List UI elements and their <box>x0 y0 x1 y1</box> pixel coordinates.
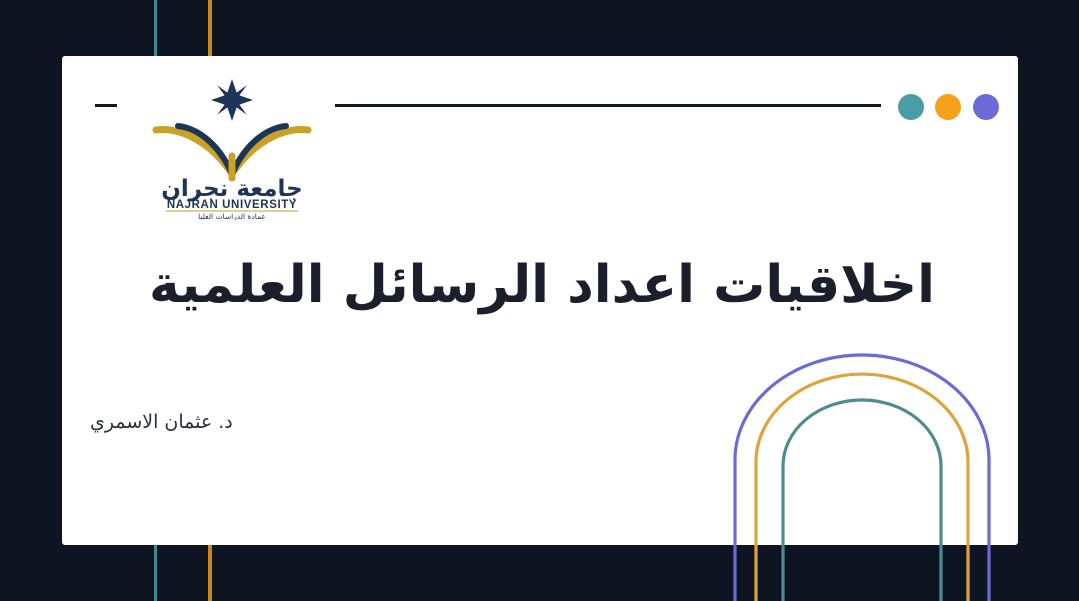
najran-university-logo: جامعة نجران NAJRAN UNIVERSITY عمادة الدر… <box>148 78 316 220</box>
slide-card: جامعة نجران NAJRAN UNIVERSITY عمادة الدر… <box>62 56 1018 545</box>
logo-english-name: NAJRAN UNIVERSITY <box>167 199 297 211</box>
header-dot-purple <box>973 94 999 120</box>
slide-author: د. عثمان الاسمري <box>90 411 233 433</box>
header-rule-short <box>95 104 117 107</box>
header-dot-teal <box>898 94 924 120</box>
header-dot-orange <box>935 94 961 120</box>
star-icon <box>211 79 253 121</box>
slide-title: اخلاقيات اعداد الرسائل العلمية <box>122 256 962 316</box>
logo-arabic-subtitle: عمادة الدراسات العليا <box>198 212 266 220</box>
presentation-slide: جامعة نجران NAJRAN UNIVERSITY عمادة الدر… <box>0 0 1079 601</box>
header-rule-long <box>335 104 881 107</box>
